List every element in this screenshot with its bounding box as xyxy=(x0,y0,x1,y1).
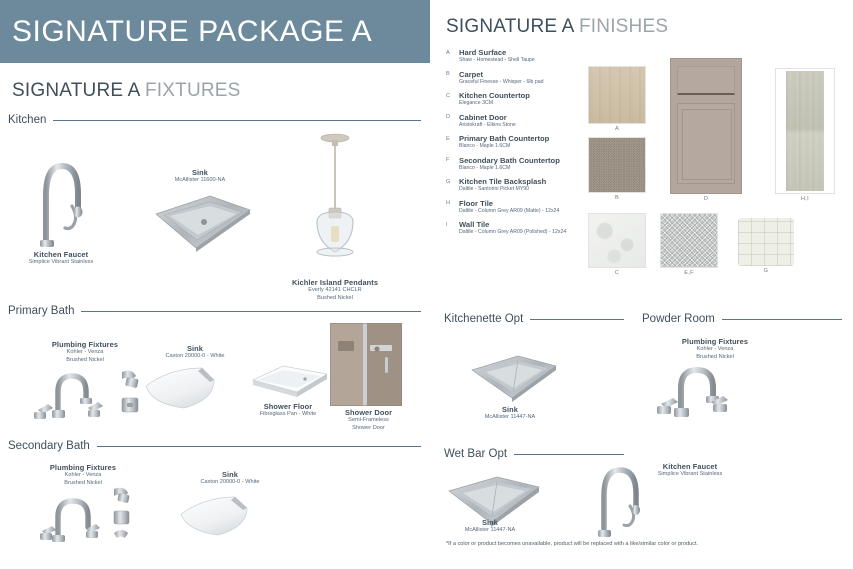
section-rule xyxy=(514,454,624,455)
section-header-kitchen: Kitchen xyxy=(8,114,421,126)
finish-name: Cabinet Door xyxy=(459,113,516,122)
finish-name: Hard Surface xyxy=(459,48,535,57)
section-label-powder-room: Powder Room xyxy=(642,313,715,325)
primary-plumbing-image xyxy=(26,362,151,422)
primary-sink-image xyxy=(140,364,250,414)
caption-title: Sink xyxy=(175,470,285,479)
kitchen-faucet-image xyxy=(26,148,96,248)
section-header-primary-bath: Primary Bath xyxy=(8,305,421,317)
caption-wetbar-sink: Sink McAllister 11447-NA xyxy=(440,518,540,535)
finish-desc: Graceful Finesse - Whisper - 6lb pad xyxy=(459,79,543,86)
caption-primary-sink: Sink Caxton 20000-0 - White xyxy=(140,344,250,361)
shower-door-image xyxy=(330,323,402,406)
finish-desc: Shaw - Homestead - Shell Taupe xyxy=(459,57,535,64)
finish-letter: I xyxy=(446,220,454,236)
finish-item: D Cabinet Door Aristokraft - Elkins Ston… xyxy=(446,113,586,129)
swatch-label-ef: E,F xyxy=(660,270,718,276)
island-pendant-image xyxy=(305,130,365,270)
swatch-floor-wall-tile: H,I xyxy=(775,68,835,202)
caption-sub: Semi-Frameless xyxy=(326,417,411,424)
finish-letter: C xyxy=(446,91,454,107)
swatch-bath-countertop: E,F xyxy=(660,213,718,276)
caption-title: Shower Floor xyxy=(238,402,338,411)
finish-desc: Blanco - Maple 1.6CM xyxy=(459,165,560,172)
section-rule xyxy=(530,319,624,320)
finish-desc: Daltile - Column Grey AR09 (Polished) - … xyxy=(459,229,566,236)
caption-title: Plumbing Fixtures xyxy=(30,340,140,349)
finish-item: I Wall Tile Daltile - Column Grey AR09 (… xyxy=(446,220,586,236)
caption-title: Sink xyxy=(150,168,250,177)
finish-desc: Blanco - Maple 1.6CM xyxy=(459,143,549,150)
caption-title: Kitchen Faucet xyxy=(630,462,750,471)
caption-sub: McAllister 11447-NA xyxy=(440,527,540,534)
finish-letter: B xyxy=(446,70,454,86)
swatch-label-c: C xyxy=(588,270,646,276)
page-title: SIGNATURE PACKAGE A xyxy=(0,15,372,49)
caption-title: Shower Door xyxy=(326,408,411,417)
finish-letter: E xyxy=(446,134,454,150)
powder-plumbing-image xyxy=(655,358,735,420)
caption-sub: Caxton 20000-0 - White xyxy=(140,353,250,360)
finish-item: A Hard Surface Shaw - Homestead - Shell … xyxy=(446,48,586,64)
footnote-text: *If a color or product becomes unavailab… xyxy=(446,541,698,547)
finish-name: Floor Tile xyxy=(459,199,559,208)
finishes-title-secondary: FINISHES xyxy=(579,16,668,37)
finish-desc: Daltile - Santorini Picket MY90 xyxy=(459,186,546,193)
section-label-secondary-bath: Secondary Bath xyxy=(8,440,90,452)
swatch-carpet: B xyxy=(588,137,646,201)
header-bar: SIGNATURE PACKAGE A xyxy=(0,0,430,63)
section-rule xyxy=(81,311,421,312)
finish-name: Carpet xyxy=(459,70,543,79)
caption-title: Plumbing Fixtures xyxy=(28,463,138,472)
caption-title: Sink xyxy=(440,518,540,527)
caption-secondary-sink: Sink Caxton 20000-0 - White xyxy=(175,470,285,487)
swatch-label-d: D xyxy=(670,196,742,202)
finish-item: C Kitchen Countertop Elegance 3CM xyxy=(446,91,586,107)
finish-item: F Secondary Bath Countertop Blanco - Map… xyxy=(446,156,586,172)
finish-name: Kitchen Tile Backsplash xyxy=(459,177,546,186)
caption-sub: Kohler - Venza xyxy=(630,346,800,353)
finish-name: Secondary Bath Countertop xyxy=(459,156,560,165)
caption-shower-door: Shower Door Semi-Frameless Shower Door xyxy=(326,408,411,432)
section-label-wet-bar: Wet Bar Opt xyxy=(444,448,507,460)
swatch-label-hi: H,I xyxy=(775,196,835,202)
caption-sub: McAllister 11600-NA xyxy=(150,177,250,184)
caption-sub: Everly 42141 CHCLR xyxy=(275,287,395,294)
section-header-secondary-bath: Secondary Bath xyxy=(8,440,421,452)
finish-desc: Aristokraft - Elkins Stone xyxy=(459,122,516,129)
swatch-image-ef xyxy=(660,213,718,268)
fixtures-section-title: SIGNATURE A FIXTURES xyxy=(12,80,241,102)
caption-island-pendants: Kichler Island Pendants Everly 42141 CHC… xyxy=(275,278,395,302)
caption-kitchen-sink: Sink McAllister 11600-NA xyxy=(150,168,250,185)
swatch-image-b xyxy=(588,137,646,193)
caption-title: Plumbing Fixtures xyxy=(630,337,800,346)
swatch-label-b: B xyxy=(588,195,646,201)
caption-sub: Caxton 20000-0 - White xyxy=(175,479,285,486)
swatch-image-d xyxy=(670,58,742,194)
swatch-cabinet-door: D xyxy=(670,58,742,202)
section-label-kitchenette: Kitchenette Opt xyxy=(444,313,523,325)
caption-title: Kichler Island Pendants xyxy=(275,278,395,287)
swatch-hard-surface: A xyxy=(588,66,646,132)
caption-shower-floor: Shower Floor Fibreglass Pan - White xyxy=(238,402,338,419)
finish-letter: A xyxy=(446,48,454,64)
caption-secondary-plumbing: Plumbing Fixtures Kohler - Venza Brushed… xyxy=(28,463,138,487)
caption-title: Kitchen Faucet xyxy=(16,250,106,259)
kitchenette-sink-image xyxy=(468,352,560,404)
finishes-list: A Hard Surface Shaw - Homestead - Shell … xyxy=(446,48,586,242)
finishes-title-primary: SIGNATURE A xyxy=(446,16,574,37)
swatch-image-g xyxy=(738,218,794,266)
section-label-kitchen: Kitchen xyxy=(8,114,46,126)
finish-letter: F xyxy=(446,156,454,172)
swatch-kitchen-countertop: C xyxy=(588,213,646,276)
fixtures-title-primary: SIGNATURE A xyxy=(12,80,140,101)
finish-desc: Daltile - Column Grey AR09 (Matte) - 12x… xyxy=(459,208,559,215)
section-label-primary-bath: Primary Bath xyxy=(8,305,74,317)
caption-sub: Kohler - Venza xyxy=(30,349,140,356)
caption-sub: Simplice Vibrant Stainless xyxy=(16,259,106,266)
finish-name: Primary Bath Countertop xyxy=(459,134,549,143)
secondary-sink-image xyxy=(175,492,280,540)
caption-sub: Fibreglass Pan - White xyxy=(238,411,338,418)
finish-letter: D xyxy=(446,113,454,129)
cabinet-door-panel xyxy=(677,103,736,183)
section-rule xyxy=(53,120,421,121)
secondary-plumbing-image xyxy=(40,485,150,543)
swatch-label-g: G xyxy=(738,268,794,274)
swatch-image-a xyxy=(588,66,646,124)
caption-sub: Kohler - Venza xyxy=(28,472,138,479)
section-header-kitchenette: Kitchenette Opt xyxy=(444,313,624,325)
kitchen-sink-image xyxy=(150,192,254,254)
section-rule xyxy=(97,446,421,447)
cabinet-drawer-front xyxy=(677,66,736,95)
finishes-section-title: SIGNATURE A FINISHES xyxy=(446,16,668,38)
section-rule xyxy=(722,319,842,320)
caption-title: Sink xyxy=(460,405,560,414)
finish-desc: Elegance 3CM xyxy=(459,100,530,107)
caption-kitchenette-sink: Sink McAllister 11447-NA xyxy=(460,405,560,422)
finish-name: Kitchen Countertop xyxy=(459,91,530,100)
fixtures-title-secondary: FIXTURES xyxy=(145,80,241,101)
caption-wetbar-faucet: Kitchen Faucet Simplice Vibrant Stainles… xyxy=(630,462,750,479)
shower-floor-image xyxy=(243,362,331,404)
finish-letter: H xyxy=(446,199,454,215)
swatch-tile-backsplash: G xyxy=(738,218,794,274)
finish-letter: G xyxy=(446,177,454,193)
section-header-wet-bar: Wet Bar Opt xyxy=(444,448,624,460)
finish-item: H Floor Tile Daltile - Column Grey AR09 … xyxy=(446,199,586,215)
swatch-image-hi xyxy=(775,68,835,194)
caption-sub: Bushed Nickel xyxy=(275,295,395,302)
finish-item: E Primary Bath Countertop Blanco - Maple… xyxy=(446,134,586,150)
caption-primary-plumbing: Plumbing Fixtures Kohler - Venza Brushed… xyxy=(30,340,140,364)
caption-sub: Shower Door xyxy=(326,425,411,432)
caption-sub: Simplice Vibrant Stainless xyxy=(630,471,750,478)
finish-item: G Kitchen Tile Backsplash Daltile - Sant… xyxy=(446,177,586,193)
caption-title: Sink xyxy=(140,344,250,353)
caption-sub: McAllister 11447-NA xyxy=(460,414,560,421)
finish-item: B Carpet Graceful Finesse - Whisper - 6l… xyxy=(446,70,586,86)
swatch-image-c xyxy=(588,213,646,268)
section-header-powder-room: Powder Room xyxy=(642,313,842,325)
swatch-label-a: A xyxy=(588,126,646,132)
caption-kitchen-faucet: Kitchen Faucet Simplice Vibrant Stainles… xyxy=(16,250,106,267)
finish-name: Wall Tile xyxy=(459,220,566,229)
